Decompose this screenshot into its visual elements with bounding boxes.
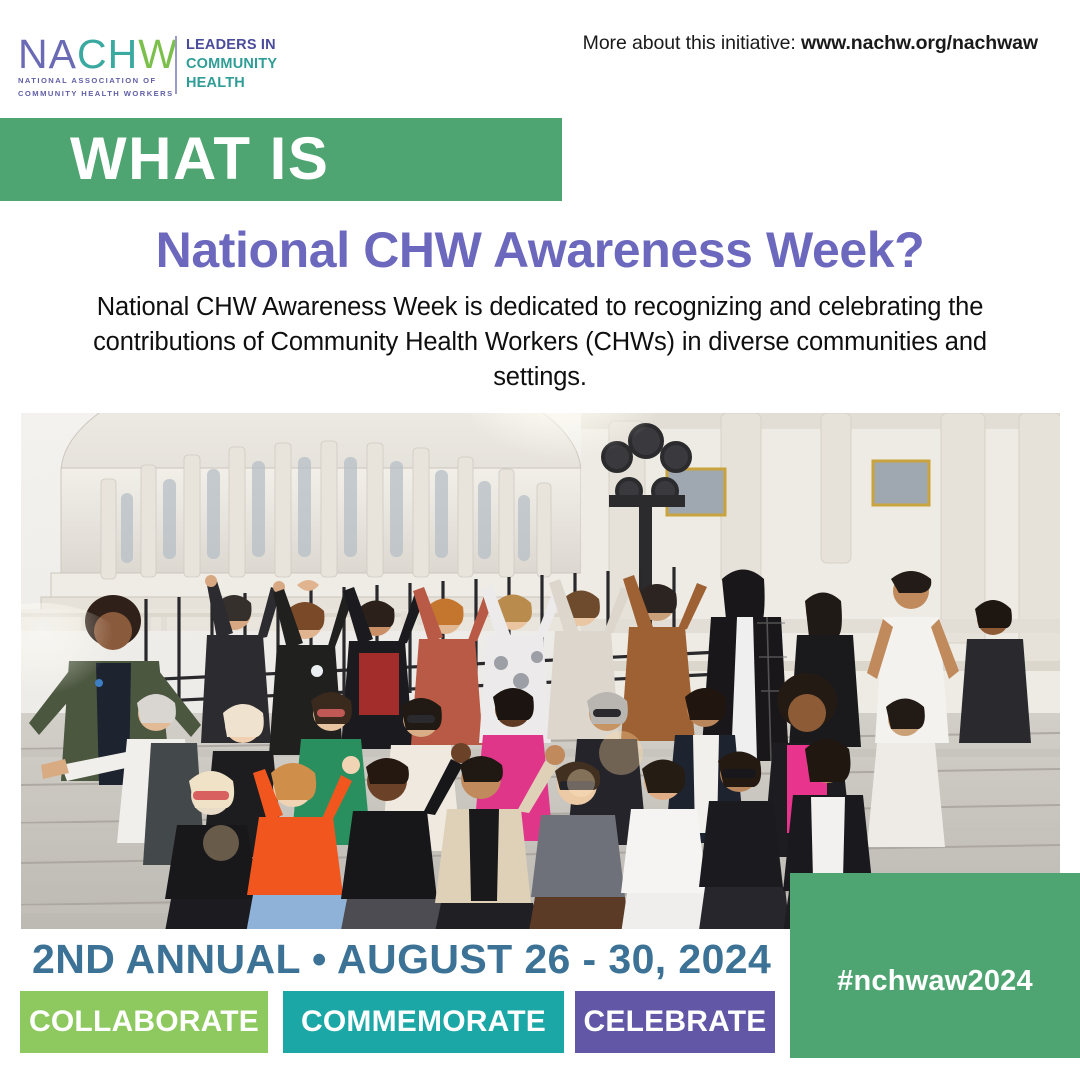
event-date: 2ND ANNUAL • AUGUST 26 - 30, 2024 xyxy=(32,937,771,981)
logo-tagline: LEADERS IN COMMUNITY HEALTH xyxy=(186,36,277,93)
eyebrow-text: WHAT IS xyxy=(70,128,329,190)
pill-collaborate[interactable]: COLLABORATE xyxy=(20,991,268,1053)
logo-subtitle-line1: NATIONAL ASSOCIATION OF xyxy=(18,76,168,87)
logo-letter-a: A xyxy=(49,31,77,77)
poster-canvas: NACHW NATIONAL ASSOCIATION OF COMMUNITY … xyxy=(0,0,1080,1080)
initiative-link-row[interactable]: More about this initiative: www.nachw.or… xyxy=(583,32,1038,55)
logo-tagline-line1: LEADERS IN xyxy=(186,36,277,55)
logo-letter-w: W xyxy=(138,31,178,77)
logo-letter-c: C xyxy=(77,31,108,77)
logo-letters: NACHW xyxy=(18,34,168,74)
nachw-logo[interactable]: NACHW NATIONAL ASSOCIATION OF COMMUNITY … xyxy=(18,34,280,96)
logo-subtitle-line2: COMMUNITY HEALTH WORKERS xyxy=(18,89,168,100)
logo-tagline-line3: HEALTH xyxy=(186,74,277,93)
logo-tagline-line2: COMMUNITY xyxy=(186,55,277,74)
initiative-url[interactable]: www.nachw.org/nachwaw xyxy=(801,32,1038,54)
body-paragraph: National CHW Awareness Week is dedicated… xyxy=(92,290,988,395)
logo-wordmark: NACHW NATIONAL ASSOCIATION OF COMMUNITY … xyxy=(18,34,168,99)
hashtag-label: #nchwaw2024 xyxy=(790,965,1080,998)
page-title: National CHW Awareness Week? xyxy=(0,222,1080,278)
logo-letter-h: H xyxy=(108,31,139,77)
pill-commemorate[interactable]: COMMEMORATE xyxy=(283,991,564,1053)
initiative-label: More about this initiative: xyxy=(583,32,796,54)
logo-letter-n: N xyxy=(18,31,49,77)
pill-celebrate[interactable]: CELEBRATE xyxy=(575,991,775,1053)
logo-divider xyxy=(175,36,177,94)
